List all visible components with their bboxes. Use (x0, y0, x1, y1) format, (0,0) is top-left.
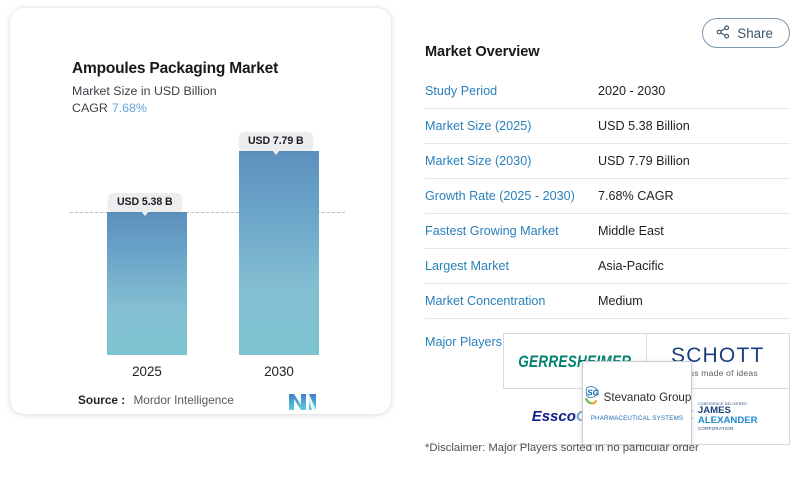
row-key: Market Concentration (425, 284, 598, 319)
stevanato-sg-mark-icon: SG (583, 385, 602, 411)
stevanato-tagline: PHARMACEUTICAL SYSTEMS (591, 415, 684, 422)
row-value: USD 5.38 Billion (598, 109, 790, 144)
james-alexander-line3: CORPORATION (698, 426, 734, 431)
table-row: Growth Rate (2025 - 2030) 7.68% CAGR (425, 179, 790, 214)
market-overview-panel: Market Overview Study Period 2020 - 2030… (425, 44, 790, 453)
bar-2025[interactable] (107, 212, 187, 355)
x-axis-label-2025: 2025 (107, 364, 187, 379)
table-row: Market Concentration Medium (425, 284, 790, 319)
table-row: Study Period 2020 - 2030 (425, 74, 790, 109)
bar-2030[interactable] (239, 151, 319, 355)
bar-label-2025: USD 5.38 B (108, 193, 182, 212)
row-value: USD 7.79 Billion (598, 144, 790, 179)
row-key: Fastest Growing Market (425, 214, 598, 249)
chart-source: Source : Mordor Intelligence (78, 393, 234, 407)
major-players-section: Major Players GERRESHEIMER SCHOTT glass … (425, 333, 790, 453)
table-row: Market Size (2025) USD 5.38 Billion (425, 109, 790, 144)
svg-text:SG: SG (587, 387, 600, 397)
screenshot-root: Ampoules Packaging Market Market Size in… (0, 0, 800, 482)
row-key: Largest Market (425, 249, 598, 284)
chart-card: Ampoules Packaging Market Market Size in… (10, 8, 391, 414)
table-row: Market Size (2030) USD 7.79 Billion (425, 144, 790, 179)
james-alexander-line2: ALEXANDER (698, 416, 758, 426)
major-players-label: Major Players (425, 335, 502, 349)
share-nodes-icon (716, 25, 730, 42)
row-value: Medium (598, 284, 790, 319)
share-button-label: Share (737, 26, 773, 41)
panel-title: Market Overview (425, 44, 790, 60)
table-row: Fastest Growing Market Middle East (425, 214, 790, 249)
x-axis-label-2030: 2030 (239, 364, 319, 379)
row-value: Middle East (598, 214, 790, 249)
row-value: 2020 - 2030 (598, 74, 790, 109)
source-label: Source : (78, 393, 125, 407)
row-key: Growth Rate (2025 - 2030) (425, 179, 598, 214)
bar-label-2030: USD 7.79 B (239, 132, 313, 151)
mordor-intelligence-logo (288, 393, 318, 416)
row-key: Study Period (425, 74, 598, 109)
row-value: 7.68% CAGR (598, 179, 790, 214)
essco-wordmark-a: Essco (532, 408, 576, 425)
row-value: Asia-Pacific (598, 249, 790, 284)
player-logo-stevanato-group[interactable]: SG Stevanato Group PHARMACEUTICAL SYSTEM… (582, 361, 692, 445)
row-key: Market Size (2025) (425, 109, 598, 144)
stevanato-wordmark: Stevanato Group (604, 391, 692, 404)
bar-chart-plot: USD 5.38 B USD 7.79 B 2025 2030 (10, 8, 391, 414)
table-row: Largest Market Asia-Pacific (425, 249, 790, 284)
market-overview-table: Study Period 2020 - 2030 Market Size (20… (425, 74, 790, 319)
row-key: Market Size (2030) (425, 144, 598, 179)
source-name: Mordor Intelligence (133, 393, 233, 407)
